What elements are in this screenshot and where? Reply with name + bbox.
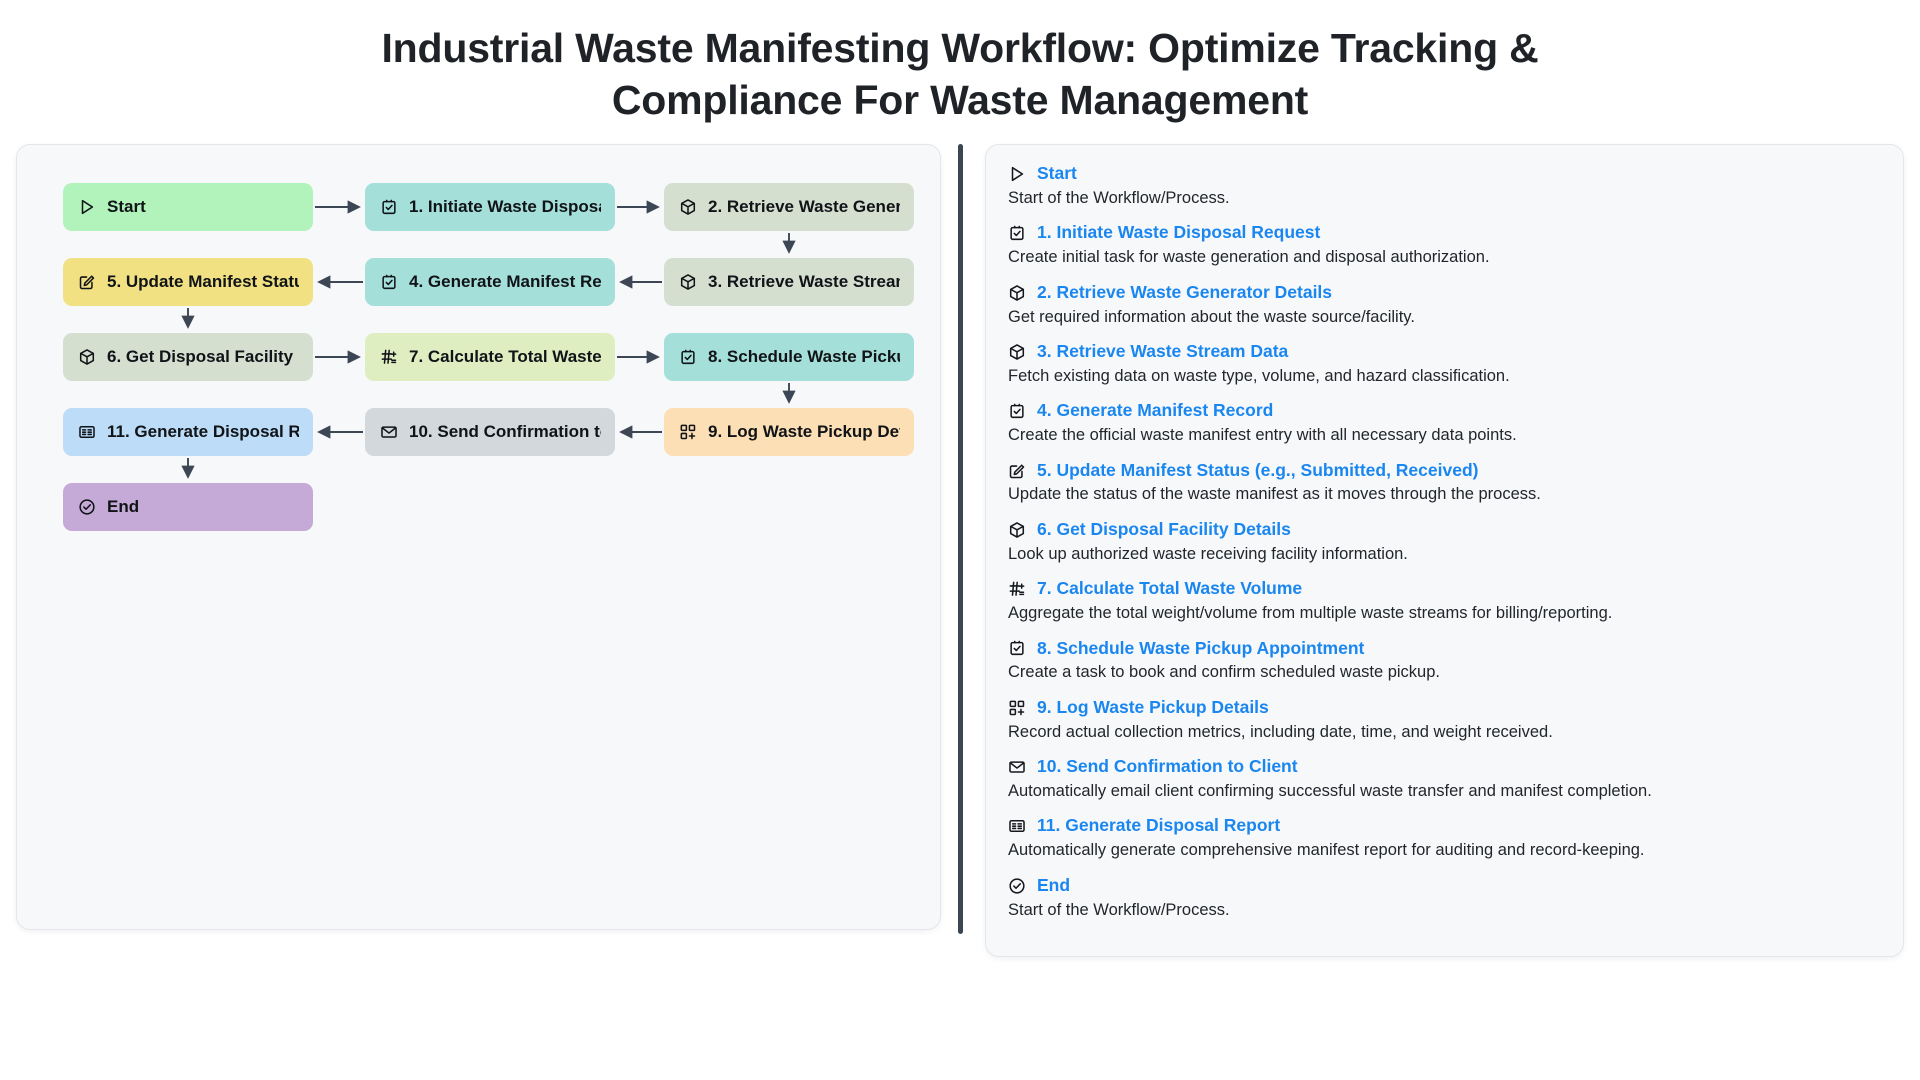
legend-item-description: Create initial task for waste generation… xyxy=(1008,247,1877,268)
legend-item-description: Automatically email client confirming su… xyxy=(1008,781,1877,802)
cube-icon xyxy=(77,348,96,367)
envelope-icon xyxy=(1008,758,1026,776)
legend-item[interactable]: 8. Schedule Waste Pickup AppointmentCrea… xyxy=(1008,638,1877,684)
flow-node-label: Start xyxy=(107,197,146,217)
report-icon xyxy=(77,423,96,442)
legend-item-description: Get required information about the waste… xyxy=(1008,307,1877,328)
legend-item-header: 4. Generate Manifest Record xyxy=(1008,400,1877,422)
flow-node-start[interactable]: Start xyxy=(63,183,313,231)
flow-node-n6[interactable]: 6. Get Disposal Facility Details xyxy=(63,333,313,381)
play-icon xyxy=(77,198,96,217)
legend-item-header: 3. Retrieve Waste Stream Data xyxy=(1008,341,1877,363)
legend-item-header: 10. Send Confirmation to Client xyxy=(1008,756,1877,778)
legend-item[interactable]: 5. Update Manifest Status (e.g., Submitt… xyxy=(1008,460,1877,506)
flow-node-n4[interactable]: 4. Generate Manifest Record xyxy=(365,258,615,306)
legend-item[interactable]: 3. Retrieve Waste Stream DataFetch exist… xyxy=(1008,341,1877,387)
report-icon xyxy=(1008,817,1026,835)
legend-item-header: 11. Generate Disposal Report xyxy=(1008,815,1877,837)
play-icon xyxy=(1008,165,1026,183)
flow-node-n10[interactable]: 10. Send Confirmation to Client xyxy=(365,408,615,456)
legend-item[interactable]: 2. Retrieve Waste Generator DetailsGet r… xyxy=(1008,282,1877,328)
flow-node-n2[interactable]: 2. Retrieve Waste Generator Details xyxy=(664,183,914,231)
flowchart-panel: Start1. Initiate Waste Disposal Request2… xyxy=(16,144,941,930)
main-content: Start1. Initiate Waste Disposal Request2… xyxy=(0,144,1920,957)
legend-panel: StartStart of the Workflow/Process.1. In… xyxy=(985,144,1904,957)
legend-item-description: Update the status of the waste manifest … xyxy=(1008,484,1877,505)
legend-item-description: Record actual collection metrics, includ… xyxy=(1008,722,1877,743)
pencil-square-icon xyxy=(1008,462,1026,480)
legend-item-description: Fetch existing data on waste type, volum… xyxy=(1008,366,1877,387)
legend-item[interactable]: StartStart of the Workflow/Process. xyxy=(1008,163,1877,209)
legend-item-description: Start of the Workflow/Process. xyxy=(1008,900,1877,921)
flow-node-n8[interactable]: 8. Schedule Waste Pickup Appointment xyxy=(664,333,914,381)
legend-item-header: 6. Get Disposal Facility Details xyxy=(1008,519,1877,541)
legend-item-title: 5. Update Manifest Status (e.g., Submitt… xyxy=(1037,460,1478,482)
flow-node-label: 7. Calculate Total Waste Volume xyxy=(409,347,601,367)
page-title: Industrial Waste Manifesting Workflow: O… xyxy=(0,0,1920,127)
legend-item-title: 2. Retrieve Waste Generator Details xyxy=(1037,282,1332,304)
legend-item[interactable]: EndStart of the Workflow/Process. xyxy=(1008,875,1877,921)
calculator-icon xyxy=(379,348,398,367)
legend-item-description: Create a task to book and confirm schedu… xyxy=(1008,662,1877,683)
legend-item-header: 1. Initiate Waste Disposal Request xyxy=(1008,222,1877,244)
flow-node-label: 1. Initiate Waste Disposal Request xyxy=(409,197,601,217)
qr-plus-icon xyxy=(678,423,697,442)
legend-item-title: 11. Generate Disposal Report xyxy=(1037,815,1280,837)
flow-node-label: 5. Update Manifest Status (e.g., Submitt… xyxy=(107,272,299,292)
qr-plus-icon xyxy=(1008,699,1026,717)
flow-node-label: 6. Get Disposal Facility Details xyxy=(107,347,299,367)
clipboard-check-icon xyxy=(379,273,398,292)
flow-node-n5[interactable]: 5. Update Manifest Status (e.g., Submitt… xyxy=(63,258,313,306)
workflow-page: Industrial Waste Manifesting Workflow: O… xyxy=(0,0,1920,1080)
check-circle-icon xyxy=(1008,877,1026,895)
legend-item-title: Start xyxy=(1037,163,1077,185)
legend-item-header: 5. Update Manifest Status (e.g., Submitt… xyxy=(1008,460,1877,482)
clipboard-check-icon xyxy=(678,348,697,367)
flowchart-canvas: Start1. Initiate Waste Disposal Request2… xyxy=(17,145,941,930)
cube-icon xyxy=(1008,343,1026,361)
flow-node-label: End xyxy=(107,497,139,517)
flow-node-label: 8. Schedule Waste Pickup Appointment xyxy=(708,347,900,367)
panel-divider xyxy=(958,144,963,934)
cube-icon xyxy=(1008,284,1026,302)
legend-item-header: 2. Retrieve Waste Generator Details xyxy=(1008,282,1877,304)
flow-node-label: 10. Send Confirmation to Client xyxy=(409,422,601,442)
legend-item-title: 7. Calculate Total Waste Volume xyxy=(1037,578,1302,600)
legend-item-title: 3. Retrieve Waste Stream Data xyxy=(1037,341,1288,363)
flow-node-n11[interactable]: 11. Generate Disposal Report xyxy=(63,408,313,456)
flow-node-label: 3. Retrieve Waste Stream Data xyxy=(708,272,900,292)
flow-node-n1[interactable]: 1. Initiate Waste Disposal Request xyxy=(365,183,615,231)
legend-item-header: End xyxy=(1008,875,1877,897)
clipboard-check-icon xyxy=(1008,224,1026,242)
cube-icon xyxy=(678,273,697,292)
pencil-square-icon xyxy=(77,273,96,292)
flow-node-label: 2. Retrieve Waste Generator Details xyxy=(708,197,900,217)
legend-item[interactable]: 6. Get Disposal Facility DetailsLook up … xyxy=(1008,519,1877,565)
legend-item-title: 9. Log Waste Pickup Details xyxy=(1037,697,1269,719)
legend-item[interactable]: 4. Generate Manifest RecordCreate the of… xyxy=(1008,400,1877,446)
calculator-icon xyxy=(1008,580,1026,598)
check-circle-icon xyxy=(77,498,96,517)
cube-icon xyxy=(1008,521,1026,539)
legend-item-header: 7. Calculate Total Waste Volume xyxy=(1008,578,1877,600)
envelope-icon xyxy=(379,423,398,442)
legend-item-description: Create the official waste manifest entry… xyxy=(1008,425,1877,446)
flow-node-n9[interactable]: 9. Log Waste Pickup Details xyxy=(664,408,914,456)
legend-item-description: Aggregate the total weight/volume from m… xyxy=(1008,603,1877,624)
legend-item-title: End xyxy=(1037,875,1070,897)
flow-node-n7[interactable]: 7. Calculate Total Waste Volume xyxy=(365,333,615,381)
flow-node-label: 4. Generate Manifest Record xyxy=(409,272,601,292)
legend-item-header: 9. Log Waste Pickup Details xyxy=(1008,697,1877,719)
clipboard-check-icon xyxy=(1008,402,1026,420)
legend-item[interactable]: 11. Generate Disposal ReportAutomaticall… xyxy=(1008,815,1877,861)
legend-item[interactable]: 10. Send Confirmation to ClientAutomatic… xyxy=(1008,756,1877,802)
flow-node-label: 11. Generate Disposal Report xyxy=(107,422,299,442)
legend-item[interactable]: 1. Initiate Waste Disposal RequestCreate… xyxy=(1008,222,1877,268)
clipboard-check-icon xyxy=(379,198,398,217)
legend-item[interactable]: 7. Calculate Total Waste VolumeAggregate… xyxy=(1008,578,1877,624)
legend-item-title: 1. Initiate Waste Disposal Request xyxy=(1037,222,1320,244)
flow-node-n3[interactable]: 3. Retrieve Waste Stream Data xyxy=(664,258,914,306)
legend-item-description: Automatically generate comprehensive man… xyxy=(1008,840,1877,861)
legend-list: StartStart of the Workflow/Process.1. In… xyxy=(1008,163,1877,921)
legend-item-header: Start xyxy=(1008,163,1877,185)
legend-item-description: Look up authorized waste receiving facil… xyxy=(1008,544,1877,565)
legend-item-title: 6. Get Disposal Facility Details xyxy=(1037,519,1291,541)
legend-item-description: Start of the Workflow/Process. xyxy=(1008,188,1877,209)
legend-item-title: 4. Generate Manifest Record xyxy=(1037,400,1273,422)
legend-item-title: 8. Schedule Waste Pickup Appointment xyxy=(1037,638,1364,660)
legend-item[interactable]: 9. Log Waste Pickup DetailsRecord actual… xyxy=(1008,697,1877,743)
flow-node-end[interactable]: End xyxy=(63,483,313,531)
cube-icon xyxy=(678,198,697,217)
legend-item-title: 10. Send Confirmation to Client xyxy=(1037,756,1298,778)
flow-node-label: 9. Log Waste Pickup Details xyxy=(708,422,900,442)
clipboard-check-icon xyxy=(1008,639,1026,657)
legend-item-header: 8. Schedule Waste Pickup Appointment xyxy=(1008,638,1877,660)
